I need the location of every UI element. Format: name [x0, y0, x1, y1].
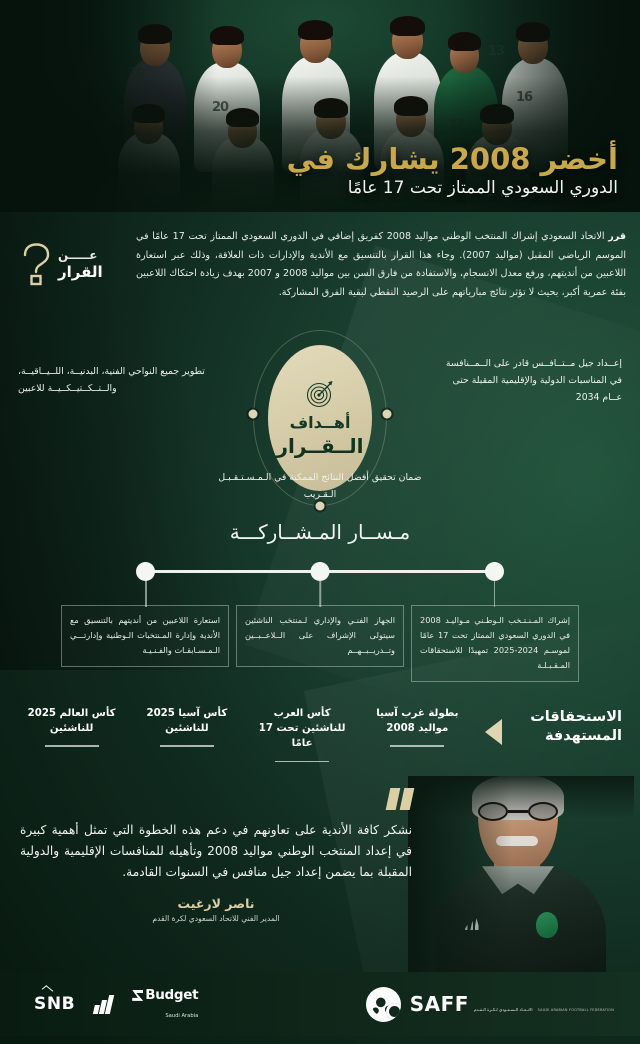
timeline-title: مـســار المـشــاركـــة — [0, 520, 640, 544]
entitlement-item: كأس العالم 2025 للناشئين — [14, 702, 129, 762]
question-mark-icon — [18, 242, 52, 286]
timeline-section: إشراك المـنـتـخب الـوطـني مـواليـد 2008 … — [0, 558, 640, 688]
entitlement-line1: كأس العالم 2025 — [19, 706, 124, 721]
about-label: عـــــن القرار — [58, 248, 103, 281]
about-body-text: الاتحاد السعودي إشراك المنتخب الوطني موا… — [136, 231, 626, 298]
infographic-page: 20 27 13 10 — [0, 0, 640, 1044]
saff-wordmark-text: SAFF — [410, 992, 469, 1016]
budget-slash-icon — [132, 990, 143, 1001]
about-label-line2: القرار — [58, 263, 103, 281]
hero-section: 20 27 13 10 — [0, 0, 640, 212]
goal-item-right: إعــداد جيل مــتــافــس قادر على الــمــ… — [432, 355, 622, 407]
entitlement-line1: كأس آسيا 2025 — [134, 706, 239, 721]
entitlement-line1: بطولة غرب آسيا — [365, 706, 470, 721]
saff-arabic-name: الاتـحـاد الـسـعـودي لـكـرة الـقـدم — [474, 1007, 533, 1012]
saff-ball-icon — [366, 987, 401, 1022]
entitlements-heading-line2: المستهدفة — [510, 727, 622, 746]
saff-wordmark: SAFF الاتـحـاد الـسـعـودي لـكـرة الـقـدم… — [410, 994, 614, 1014]
entitlement-item: بطولة غرب آسيا مواليد 2008 — [360, 702, 475, 762]
quote-author-role: المدير الفني للاتحاد السعودي لكرة القدم — [20, 914, 412, 923]
timeline-stem-3 — [145, 581, 147, 607]
hero-title-block: أخضر 2008 يشارك في الدوري السعودي الممتا… — [287, 143, 618, 198]
coach-portrait — [408, 776, 634, 972]
entitlements-section: الاستحقاقات المستهدفة بطولة غرب آسيا موا… — [0, 688, 640, 766]
timeline-dot-3 — [136, 562, 155, 581]
entitlement-item: كأس العرب للناشئين تحت 17 عامًا — [245, 702, 360, 762]
page-subtitle: الدوري السعودي الممتاز تحت 17 عامًا — [287, 178, 618, 198]
entitlement-item: كأس آسيا 2025 للناشئين — [129, 702, 244, 762]
snb-logo: SNB — [34, 994, 75, 1014]
entitlement-line2: للناشئين تحت 17 عامًا — [250, 721, 355, 752]
page-title: أخضر 2008 يشارك في — [287, 143, 618, 175]
quote-author-name: ناصر لارغيت — [20, 896, 412, 911]
entitlement-line2: مواليد 2008 — [365, 721, 470, 736]
triangle-left-icon — [485, 719, 502, 745]
entitlement-rule — [45, 745, 99, 747]
timeline-dot-1 — [485, 562, 504, 581]
entitlement-rule — [275, 761, 329, 763]
goal-item-bottom: ضمان تحقيق أفضل النتائج الممكنة في الـمـ… — [215, 469, 425, 503]
saff-logo: SAFF الاتـحـاد الـسـعـودي لـكـرة الـقـدم… — [366, 987, 614, 1022]
snb-wordmark: SNB — [34, 994, 75, 1014]
about-label-line1: عـــــن — [58, 248, 103, 263]
goals-badge-line1: أهــداف — [290, 413, 351, 432]
sponsor-logos: SNB Budget Saudi Arabia — [34, 988, 198, 1020]
about-paragraph: قرر الاتحاد السعودي إشراك المنتخب الوطني… — [136, 226, 626, 303]
quotation-mark-icon — [20, 788, 412, 810]
entitlement-line1: كأس العرب — [250, 706, 355, 721]
goals-badge-line2: الــقــرار — [277, 434, 364, 458]
quote-block: نشكر كافة الأندية على تعاونهم في دعم هذه… — [20, 788, 412, 923]
budget-logo: Budget Saudi Arabia — [132, 988, 198, 1020]
budget-wordmark: Budget — [145, 988, 198, 1003]
saff-english-name: SAUDI ARABIAN FOOTBALL FEDERATION — [538, 1008, 614, 1012]
goal-node-right — [383, 410, 392, 419]
timeline-stem-1 — [494, 581, 496, 607]
quote-section: نشكر كافة الأندية على تعاونهم في دعم هذه… — [0, 776, 640, 972]
budget-sub: Saudi Arabia — [165, 1013, 198, 1019]
goal-item-left: تطوير جميع النواحي الفنية، البدنيــة، ال… — [18, 363, 208, 397]
entitlements-heading-line1: الاستحقاقات — [510, 708, 622, 727]
timeline-stem-2 — [319, 581, 321, 607]
adidas-logo — [93, 995, 114, 1014]
entitlement-line2: للناشئين — [19, 721, 124, 736]
entitlement-rule — [390, 745, 444, 747]
timeline-card: إشراك المـنـتـخب الـوطـني مـواليـد 2008 … — [411, 605, 579, 682]
entitlement-line2: للناشئين — [134, 721, 239, 736]
about-badge: عـــــن القرار — [18, 242, 126, 286]
quote-text: نشكر كافة الأندية على تعاونهم في دعم هذه… — [20, 820, 412, 883]
timeline-card: استعارة اللاعبين من أنديتهم بالتنسيق مع … — [61, 605, 229, 667]
footer: SAFF الاتـحـاد الـسـعـودي لـكـرة الـقـدم… — [0, 972, 640, 1036]
entitlement-rule — [160, 745, 214, 747]
timeline-card: الجهاز الفنـي والإداري لـمنتخب الناشئين … — [236, 605, 404, 667]
goals-section: أهــداف الــقــرار إعــداد جيل مــتــافـ… — [0, 321, 640, 516]
coach-vignette — [408, 776, 634, 972]
entitlements-list: بطولة غرب آسيا مواليد 2008 كأس العرب للن… — [14, 702, 475, 762]
target-icon — [305, 379, 335, 409]
goal-node-left — [249, 410, 258, 419]
about-lead: قرر — [608, 231, 626, 242]
about-decision-section: قرر الاتحاد السعودي إشراك المنتخب الوطني… — [0, 212, 640, 321]
entitlements-heading: الاستحقاقات المستهدفة — [510, 702, 622, 746]
timeline-dot-2 — [311, 562, 330, 581]
